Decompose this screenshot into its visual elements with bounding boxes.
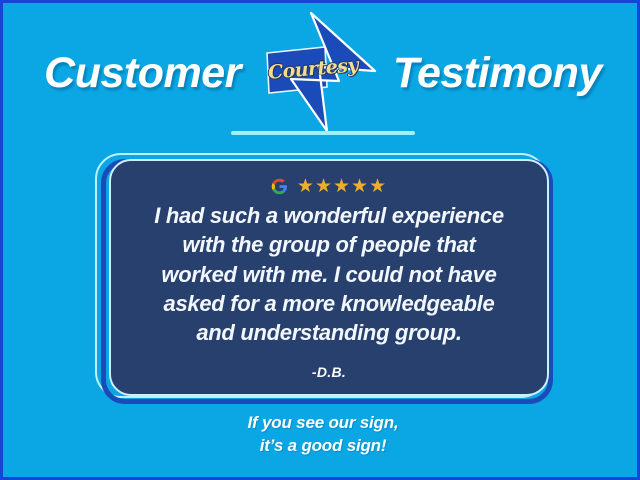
rating-row: ★★★★★ [271,175,387,197]
google-g-icon [271,178,288,195]
poster-header: Customer Courtesy Testimony [3,33,640,113]
courtesy-arrow-logo: Courtesy [247,9,387,134]
quote-line: I had such a wonderful experience [154,203,504,228]
quote-line: and understanding group. [196,320,461,345]
quote-line: worked with me. I could not have [161,262,496,287]
brand-tagline: If you see our sign, it’s a good sign! [3,411,640,458]
title-divider [231,131,415,135]
quote-line: asked for a more knowledgeable [164,291,495,316]
testimonial-quote: I had such a wonderful experience with t… [154,201,504,347]
page-title-left: Customer [44,52,241,95]
tagline-line-2: it’s a good sign! [260,436,387,455]
tagline-line-1: If you see our sign, [248,413,399,432]
quote-line: with the group of people that [182,232,475,257]
testimonial-card: ★★★★★ I had such a wonderful experience … [109,159,549,396]
testimonial-poster: Customer Courtesy Testimony ★★★★★ [0,0,640,480]
quote-attribution: -D.B. [312,364,346,380]
page-title-right: Testimony [393,52,602,95]
star-rating: ★★★★★ [297,177,387,196]
